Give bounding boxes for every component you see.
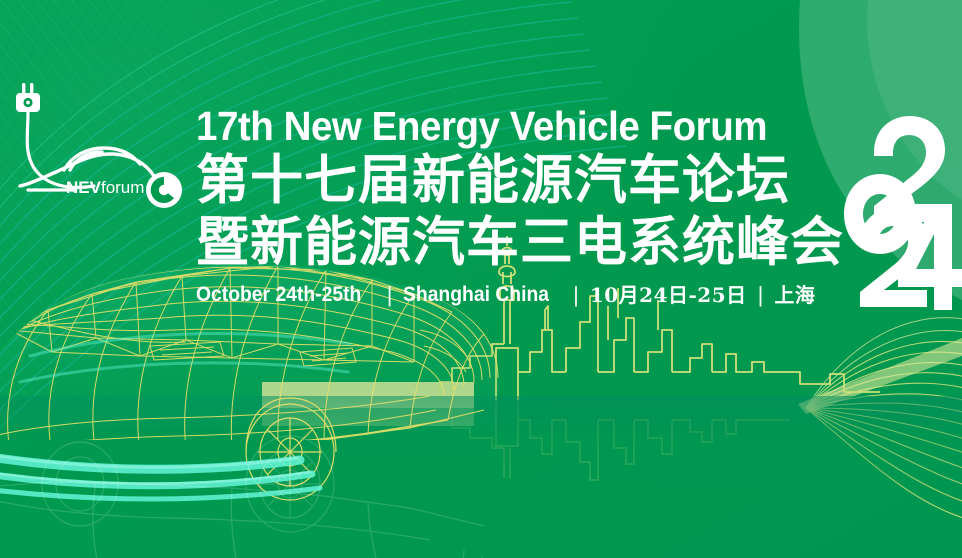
charging-cable-icon (27, 112, 94, 187)
title-chinese-primary: 第十七届新能源汽车论坛 (196, 150, 856, 212)
event-details-line: October 24th-25th | Shanghai China | 10月… (196, 283, 856, 307)
logo-wordmark-bold: NEV (66, 178, 101, 197)
separator-2: | (562, 283, 590, 307)
title-chinese-secondary: 暨新能源汽车三电系统峰会 (196, 212, 856, 274)
separator-3: | (747, 283, 775, 307)
charging-plug-icon (16, 83, 40, 112)
separator-1: | (376, 283, 404, 307)
logo-wordmark-light: forum (101, 178, 144, 197)
wheel-icon (146, 172, 182, 208)
title-block: 17th New Energy Vehicle Forum 第十七届新能源汽车论… (196, 104, 856, 307)
location-english: Shanghai China (403, 283, 549, 307)
year-2024-graphic (842, 104, 962, 316)
logo-wordmark: NEVforum (66, 178, 144, 198)
conference-banner: NEVforum 17th New Energy Vehicle Forum 第… (0, 0, 962, 558)
date-chinese: 10月24日-25日 (590, 283, 747, 307)
title-english: 17th New Energy Vehicle Forum (196, 104, 816, 148)
location-chinese: 上海 (774, 283, 815, 307)
date-english: October 24th-25th (196, 283, 361, 307)
water-reflection-band (0, 396, 962, 558)
